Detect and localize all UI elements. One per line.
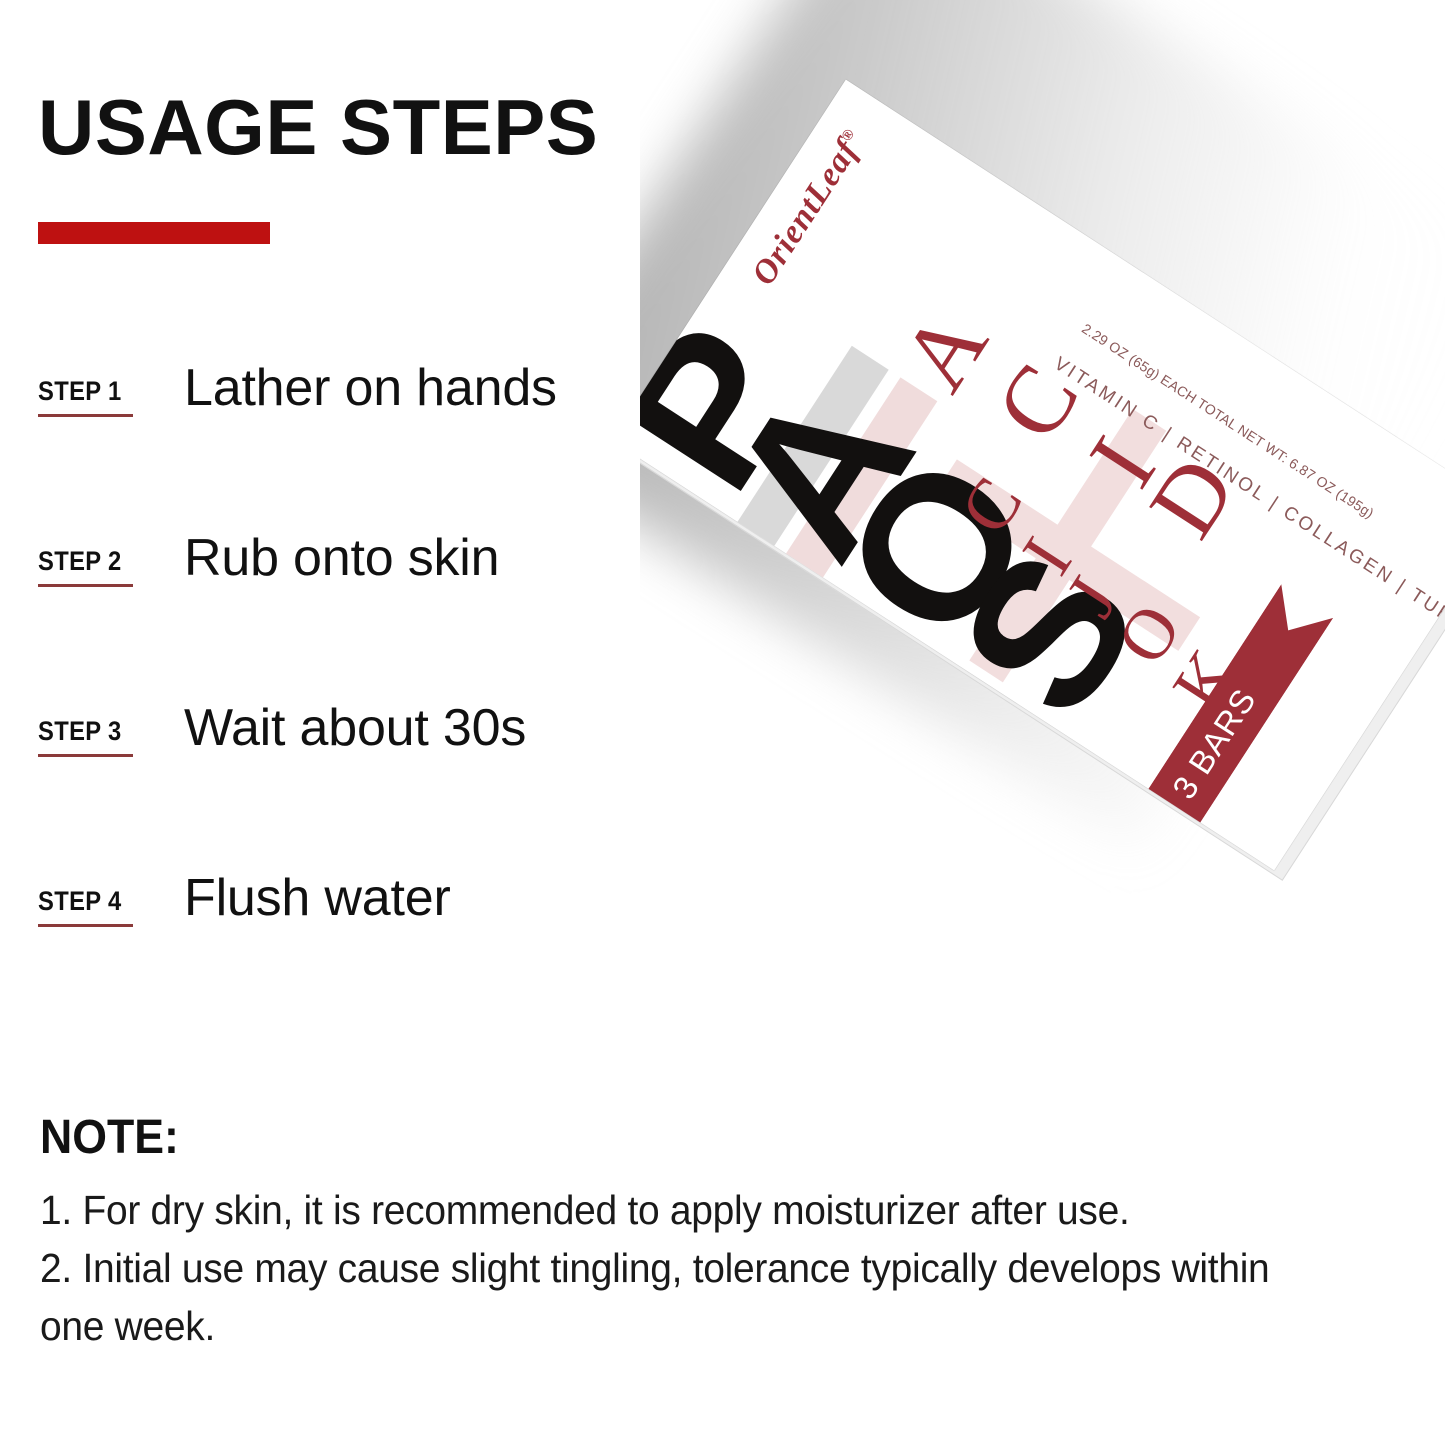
note-line: 2. Initial use may cause slight tingling… xyxy=(40,1239,1304,1355)
step-tag-label: STEP 2 xyxy=(38,546,126,577)
step-description: Rub onto skin xyxy=(184,528,499,588)
step-tag-label: STEP 3 xyxy=(38,716,126,747)
title-accent-rule xyxy=(38,222,270,244)
step-tag: STEP 2 xyxy=(38,546,138,587)
step-item: STEP 2 Rub onto skin xyxy=(38,536,698,706)
step-tag-label: STEP 4 xyxy=(38,886,126,917)
usage-steps-list: STEP 1 Lather on hands STEP 2 Rub onto s… xyxy=(38,366,698,1046)
product-package-photo: OrientLeaf® P A O S A C I D C I J O K VI… xyxy=(640,0,1445,1120)
step-tag: STEP 3 xyxy=(38,716,138,757)
note-section: NOTE: 1. For dry skin, it is recommended… xyxy=(40,1110,1370,1356)
step-item: STEP 3 Wait about 30s xyxy=(38,706,698,876)
step-description: Flush water xyxy=(184,868,451,928)
step-tag-underline xyxy=(38,414,133,417)
step-tag: STEP 4 xyxy=(38,886,138,927)
step-tag-underline xyxy=(38,924,133,927)
step-tag-label: STEP 1 xyxy=(38,376,126,407)
step-tag-underline xyxy=(38,754,133,757)
note-line: 1. For dry skin, it is recommended to ap… xyxy=(40,1181,1304,1239)
step-item: STEP 1 Lather on hands xyxy=(38,366,698,536)
step-description: Wait about 30s xyxy=(184,698,526,758)
page-title: USAGE STEPS xyxy=(38,88,598,166)
step-description: Lather on hands xyxy=(184,358,557,418)
bars-count-label: 3 BARS xyxy=(1165,682,1264,806)
step-tag: STEP 1 xyxy=(38,376,138,417)
infographic-page: USAGE STEPS STEP 1 Lather on hands STEP … xyxy=(0,0,1445,1445)
step-item: STEP 4 Flush water xyxy=(38,876,698,1046)
step-tag-underline xyxy=(38,584,133,587)
